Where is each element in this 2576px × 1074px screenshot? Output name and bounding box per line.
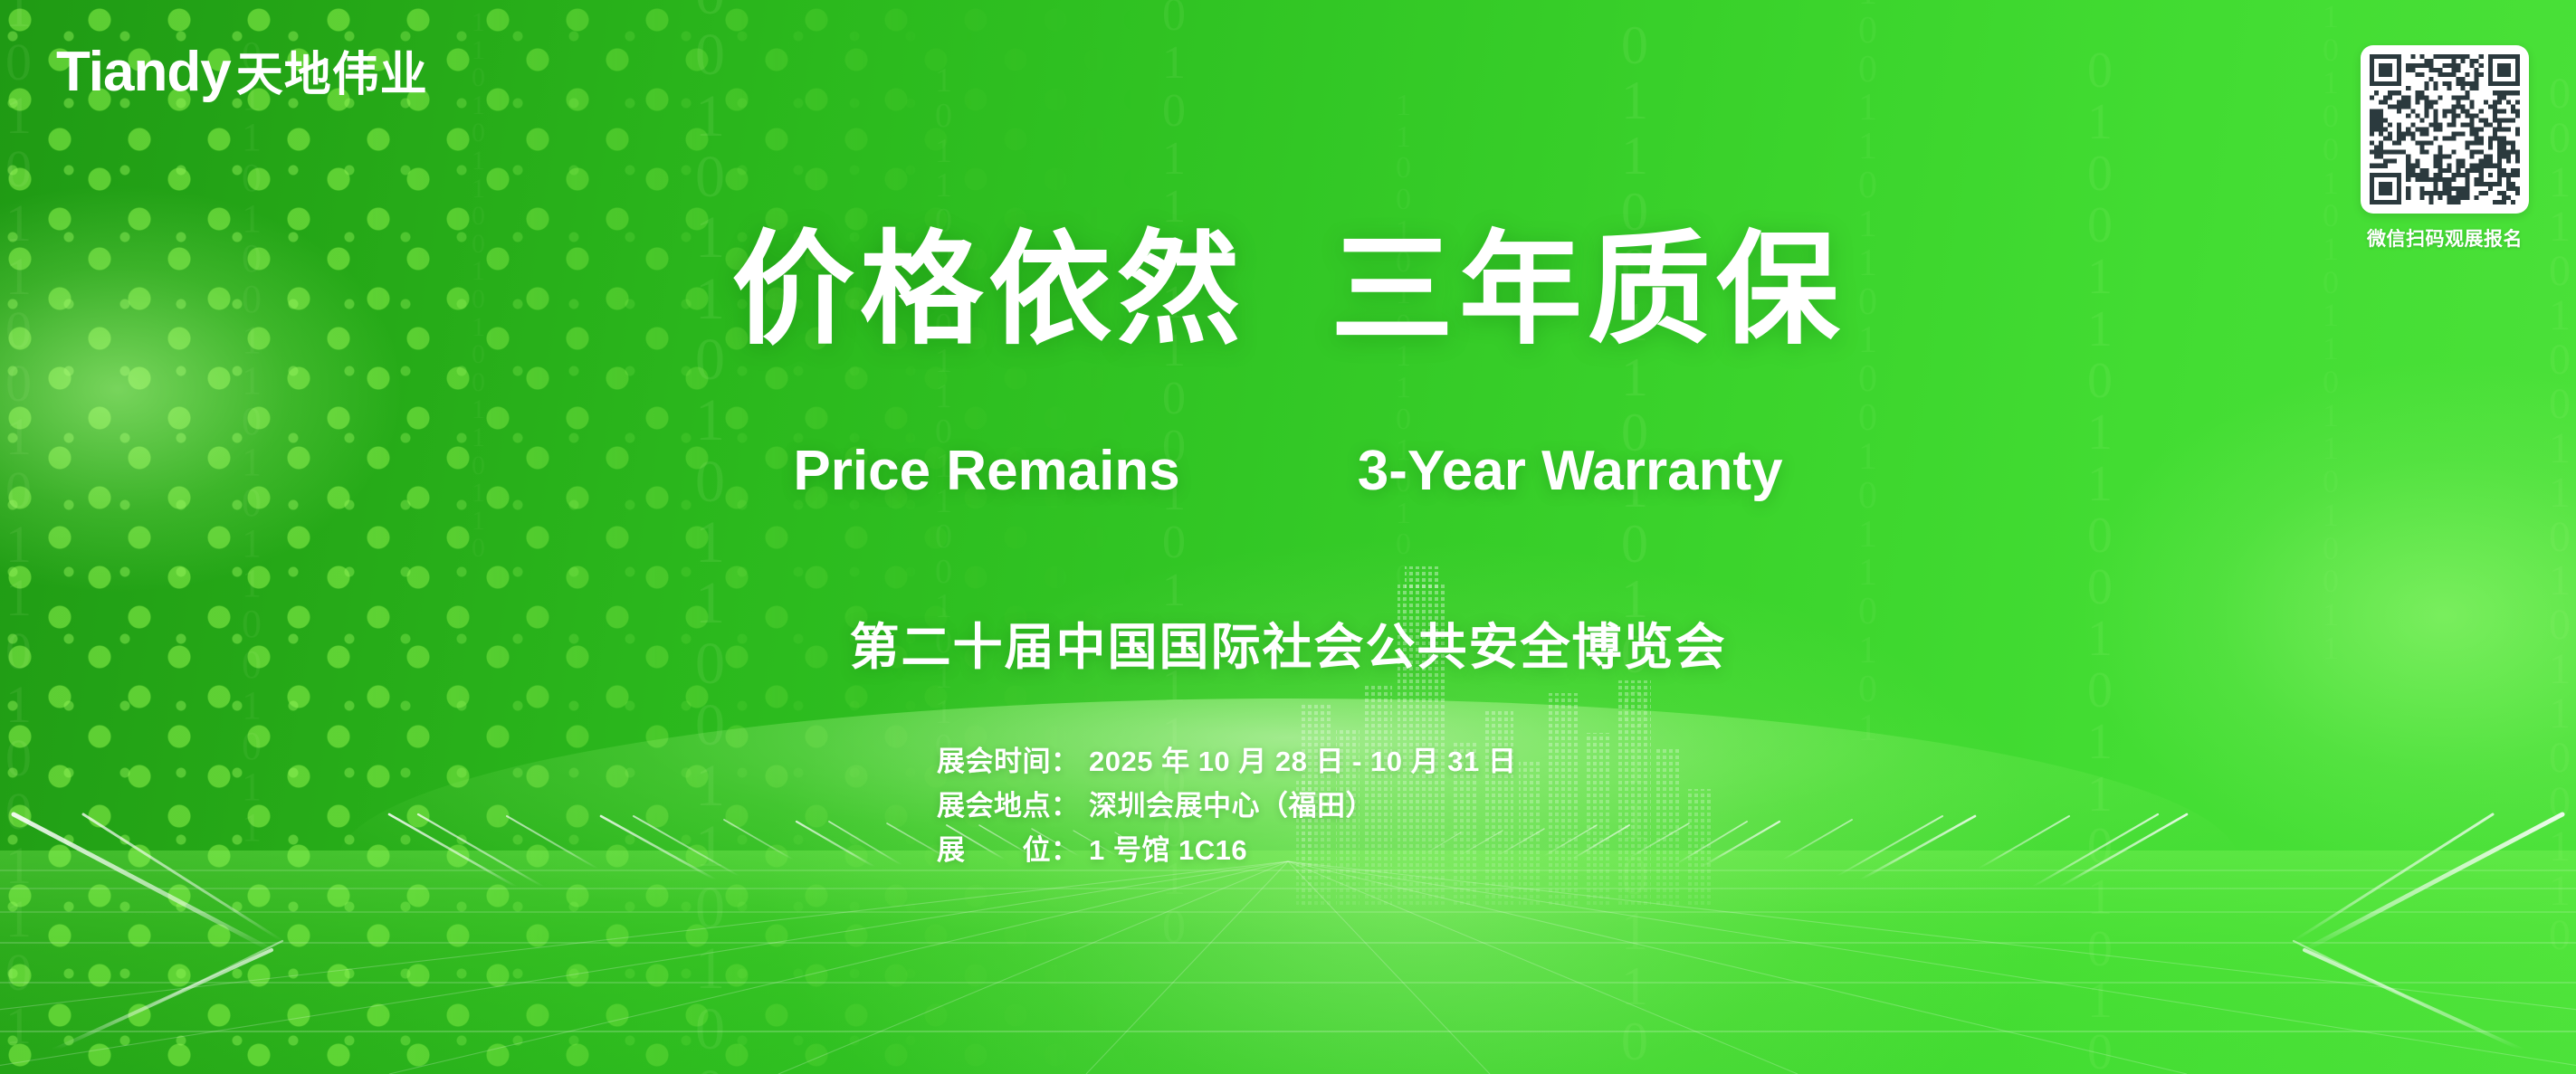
background-perspective-corridor [0, 0, 2576, 1074]
expo-title: 第二十届中国国际社会公共安全博览会 [0, 606, 2576, 679]
brand-logo-en: Tiandy [56, 40, 231, 104]
expo-detail-label: 展会地点： [937, 784, 1089, 829]
expo-detail-value: 深圳会展中心（福田） [1089, 784, 1374, 829]
expo-detail-row: 展会地点：深圳会展中心（福田） [937, 784, 1516, 829]
headline-english: Price Remains 3-Year Warranty [0, 443, 2576, 499]
expo-detail-row: 展会时间：2025 年 10 月 28 日 - 10 月 31 日 [937, 740, 1516, 784]
headline-right-cn: 三年质保 [1331, 228, 1845, 351]
headline-chinese: 价格依然 三年质保 [0, 228, 2576, 351]
qr-code-icon [2370, 54, 2520, 204]
expo-detail-value: 2025 年 10 月 28 日 - 10 月 31 日 [1089, 740, 1516, 784]
qr-caption: 微信扫码观展报名 [2350, 224, 2540, 252]
expo-detail-value: 1 号馆 1C16 [1089, 829, 1247, 873]
headline-right-en: 3-Year Warranty [1358, 443, 1783, 499]
headline-left-cn: 价格依然 [731, 228, 1245, 351]
expo-detail-label: 展 位： [937, 829, 1089, 873]
brand-logo: Tiandy 天地伟业 [56, 36, 428, 104]
headline-left-en: Price Remains [793, 443, 1179, 499]
qr-code-card[interactable] [2361, 45, 2529, 214]
promotional-banner: 1 0 1 0 1 1 0 0 1 0 1 1 0 1 0 0 1 1 0 10… [0, 0, 2576, 1074]
expo-detail-row: 展 位：1 号馆 1C16 [937, 829, 1516, 873]
qr-registration-block[interactable]: 微信扫码观展报名 [2350, 45, 2540, 252]
expo-detail-label: 展会时间： [937, 740, 1089, 784]
brand-logo-cn: 天地伟业 [236, 36, 428, 104]
expo-details: 展会时间：2025 年 10 月 28 日 - 10 月 31 日展会地点：深圳… [937, 740, 1516, 873]
